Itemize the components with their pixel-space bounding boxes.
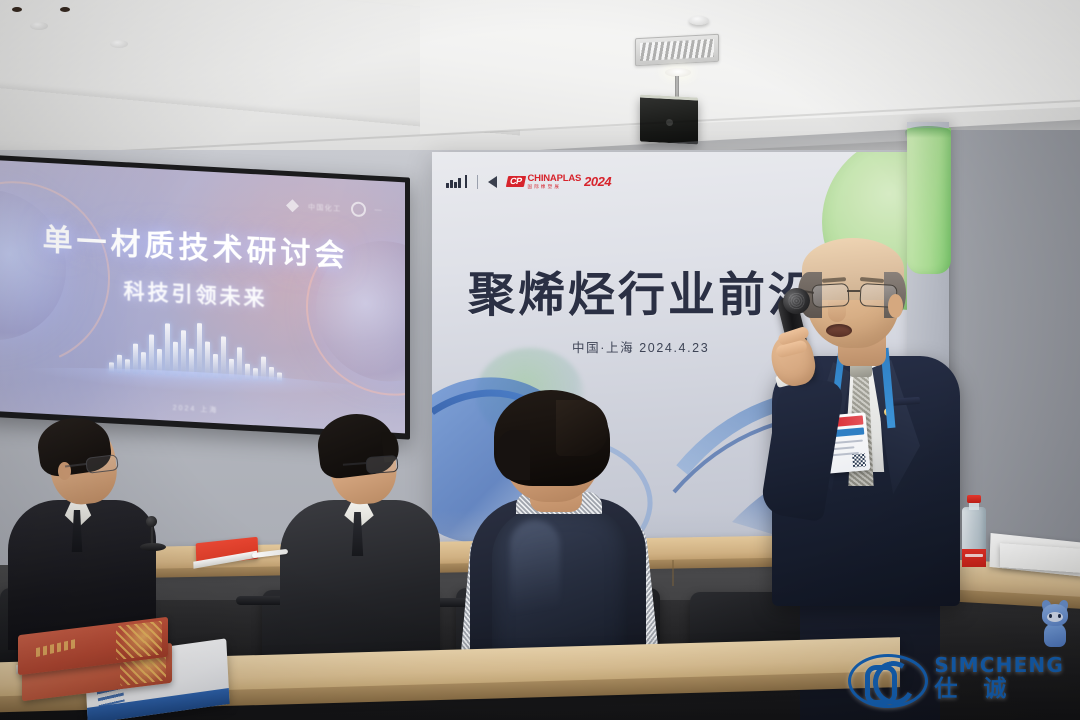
mascot-eye xyxy=(1049,614,1052,618)
chinaplas-brand-cn: 国际橡塑展 xyxy=(528,185,582,190)
skyline-bar xyxy=(197,323,202,377)
mascot-body xyxy=(1044,623,1066,647)
attendee-center-vest-sheen xyxy=(510,520,560,650)
screen-sponsor-logos: 中国化工 — xyxy=(286,198,383,218)
air-vent-icon xyxy=(635,34,719,66)
screen-sponsor-name: 中国化工 xyxy=(308,202,342,214)
desk-microphone-base xyxy=(140,543,166,551)
backdrop-logo-row: CP CHINAPLAS 国际橡塑展 2024 xyxy=(446,174,611,189)
watermark-logo: SIMCHENG 仕 诚 xyxy=(848,650,1064,706)
desk-microphone-icon xyxy=(146,516,157,527)
bottle-label xyxy=(962,549,986,567)
attendee-center-hair xyxy=(494,390,610,486)
simcheng-monogram-icon xyxy=(848,650,922,706)
skyline-bar xyxy=(181,330,186,376)
book-title-foil xyxy=(36,639,76,657)
glasses-icon xyxy=(365,455,398,474)
bottle-body xyxy=(962,507,986,559)
watermark-brand-en: SIMCHENG xyxy=(934,655,1064,675)
speaker-mouth xyxy=(826,324,852,337)
speaker-eye xyxy=(60,7,70,12)
play-triangle-logo-icon xyxy=(488,176,497,188)
table-seam xyxy=(672,560,674,586)
glasses-bridge xyxy=(847,290,860,292)
chinaplas-logo: CP CHINAPLAS 国际橡塑展 2024 xyxy=(507,174,611,189)
chinaplas-year: 2024 xyxy=(584,175,611,188)
skyline-bar xyxy=(165,323,170,375)
projector-mount-rod xyxy=(675,76,679,98)
watermark-text: SIMCHENG 仕 诚 xyxy=(934,655,1064,701)
conference-photo: 中国化工 — 单一材质技术研讨会 科技引领未来 2024 上海 CP CHI xyxy=(0,0,1080,720)
watermark-brand-cn: 仕 诚 xyxy=(934,678,1064,701)
book-gold-pattern xyxy=(116,621,162,661)
projection-screen: 中国化工 — 单一材质技术研讨会 科技引领未来 2024 上海 xyxy=(0,154,410,439)
book-stack xyxy=(18,626,180,702)
water-bottle xyxy=(962,495,986,559)
monogram-inner xyxy=(865,661,905,695)
backdrop-title: 聚烯烃行业前沿 xyxy=(468,256,818,325)
badge-qr-code-icon xyxy=(852,453,866,467)
skyline-bar xyxy=(221,336,226,378)
chinaplas-mark: CP xyxy=(506,176,526,187)
screen-sponsor-name-2: — xyxy=(375,207,383,214)
partner-bars-logo-icon xyxy=(446,175,467,188)
ceiling-recess-right xyxy=(420,0,1080,135)
diamond-logo-icon xyxy=(286,199,299,213)
speaker-nose xyxy=(828,300,846,322)
backdrop-green-side-wrap xyxy=(907,128,951,274)
logo-divider xyxy=(477,175,478,189)
backdrop-green-top-edge xyxy=(905,126,951,138)
bottle-cap xyxy=(967,495,981,503)
circle-c-logo-icon xyxy=(351,201,366,217)
smoke-detector-icon xyxy=(689,16,709,25)
mascot-figure xyxy=(1040,604,1070,648)
ceiling-downlight-icon xyxy=(110,40,128,48)
ceiling-downlight-icon xyxy=(30,22,48,30)
speaker-eye xyxy=(12,7,22,12)
mascot-eye xyxy=(1058,614,1061,618)
glasses-icon xyxy=(812,284,898,306)
monogram-s xyxy=(865,665,897,696)
skyline-bar xyxy=(149,334,154,374)
chinaplas-brand-name: CHINAPLAS xyxy=(528,174,582,184)
projection-screen-surface: 中国化工 — 单一材质技术研讨会 科技引领未来 2024 上海 xyxy=(0,160,405,434)
speaker-ear xyxy=(888,294,903,318)
